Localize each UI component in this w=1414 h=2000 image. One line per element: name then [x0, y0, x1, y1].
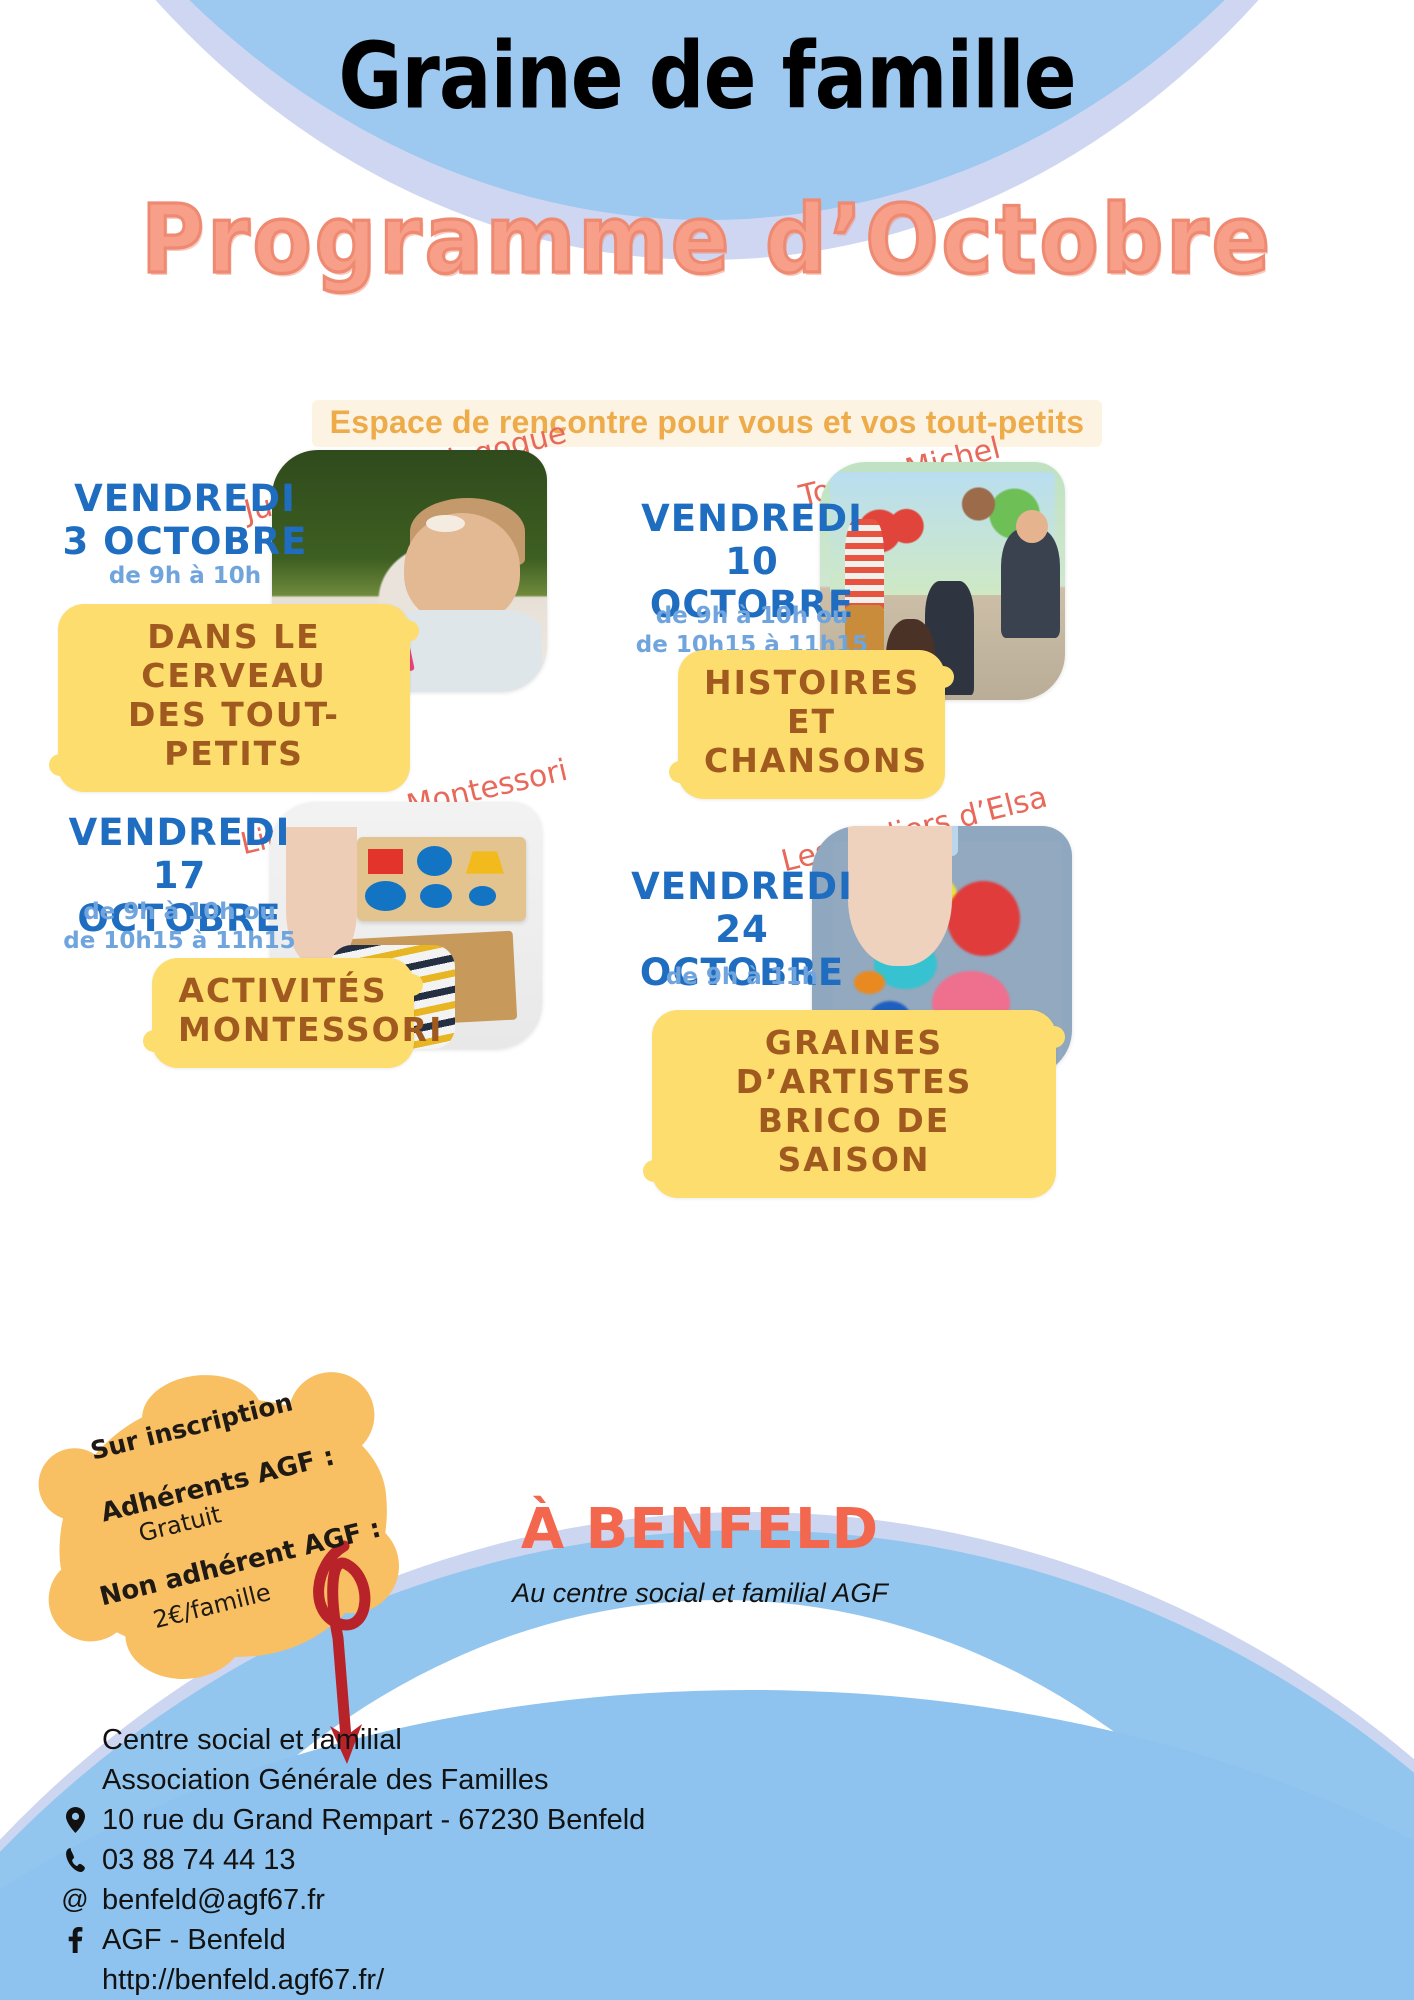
location-city: À BENFELD — [430, 1497, 970, 1562]
event-3-hours-1: de 9h à 10h ou — [52, 898, 307, 927]
poster-root: Graine de famille Programme d’Octobre Es… — [0, 0, 1414, 2000]
facebook-text: AGF - Benfeld — [102, 1920, 286, 1960]
facebook-row: AGF - Benfeld — [60, 1920, 645, 1960]
event-2-banner: HISTOIRES ET CHANSONS — [678, 650, 945, 799]
address-text: 10 rue du Grand Rempart - 67230 Benfeld — [102, 1800, 645, 1840]
event-3-hours-2: de 10h15 à 11h15 — [52, 927, 307, 956]
org-line-2: Association Générale des Familles — [60, 1760, 645, 1800]
event-3-day: VENDREDI — [52, 812, 307, 855]
event-4-banner: GRAINES D’ARTISTES BRICO DE SAISON — [652, 1010, 1056, 1198]
footer: Centre social et familial Association Gé… — [0, 1690, 1414, 2000]
event-2-hours-1: de 9h à 10h ou — [622, 602, 882, 631]
website-text[interactable]: http://benfeld.agf67.fr/ — [60, 1960, 645, 2000]
location-pin-icon — [60, 1807, 90, 1833]
event-3-banner: ACTIVITÉS MONTESSORI — [152, 958, 414, 1068]
event-2-day: VENDREDI — [622, 498, 882, 541]
event-1-title-2: DES TOUT-PETITS — [84, 696, 384, 774]
email-row: @ benfeld@agf67.fr — [60, 1880, 645, 1920]
event-2-title-2: CHANSONS — [704, 742, 919, 781]
event-4-title-2: BRICO DE SAISON — [678, 1102, 1030, 1180]
email-text: benfeld@agf67.fr — [102, 1880, 325, 1920]
page-title: Graine de famille — [0, 24, 1414, 130]
event-3-hours: de 9h à 10h ou de 10h15 à 11h15 — [52, 898, 307, 956]
event-3-title-2: MONTESSORI — [178, 1011, 388, 1050]
phone-row: 03 88 74 44 13 — [60, 1840, 645, 1880]
event-1-day: VENDREDI — [60, 478, 310, 521]
subtitle-wrapper: Espace de rencontre pour vous et vos tou… — [0, 400, 1414, 447]
event-2-title-1: HISTOIRES ET — [704, 664, 919, 742]
event-1-date: VENDREDI 3 OCTOBRE — [60, 478, 310, 564]
event-4-day: VENDREDI — [608, 866, 876, 909]
phone-text: 03 88 74 44 13 — [102, 1840, 296, 1880]
contact-block: Centre social et familial Association Gé… — [60, 1720, 645, 2000]
location-venue: Au centre social et familial AGF — [400, 1578, 1000, 1609]
at-sign-icon: @ — [60, 1881, 90, 1918]
facebook-icon — [60, 1927, 90, 1953]
event-1-banner: DANS LE CERVEAU DES TOUT-PETITS — [58, 604, 410, 792]
address-row: 10 rue du Grand Rempart - 67230 Benfeld — [60, 1800, 645, 1840]
event-4-hours: de 9h à 11h — [608, 963, 876, 992]
event-1-datenum: 3 OCTOBRE — [60, 521, 310, 564]
phone-icon — [60, 1847, 90, 1873]
event-4-title-1: GRAINES D’ARTISTES — [678, 1024, 1030, 1102]
event-3-title-1: ACTIVITÉS — [178, 972, 388, 1011]
program-title: Programme d’Octobre — [0, 185, 1414, 295]
event-1-hours: de 9h à 10h — [60, 562, 310, 591]
event-1-title-1: DANS LE CERVEAU — [84, 618, 384, 696]
org-line-1: Centre social et familial — [60, 1720, 645, 1760]
